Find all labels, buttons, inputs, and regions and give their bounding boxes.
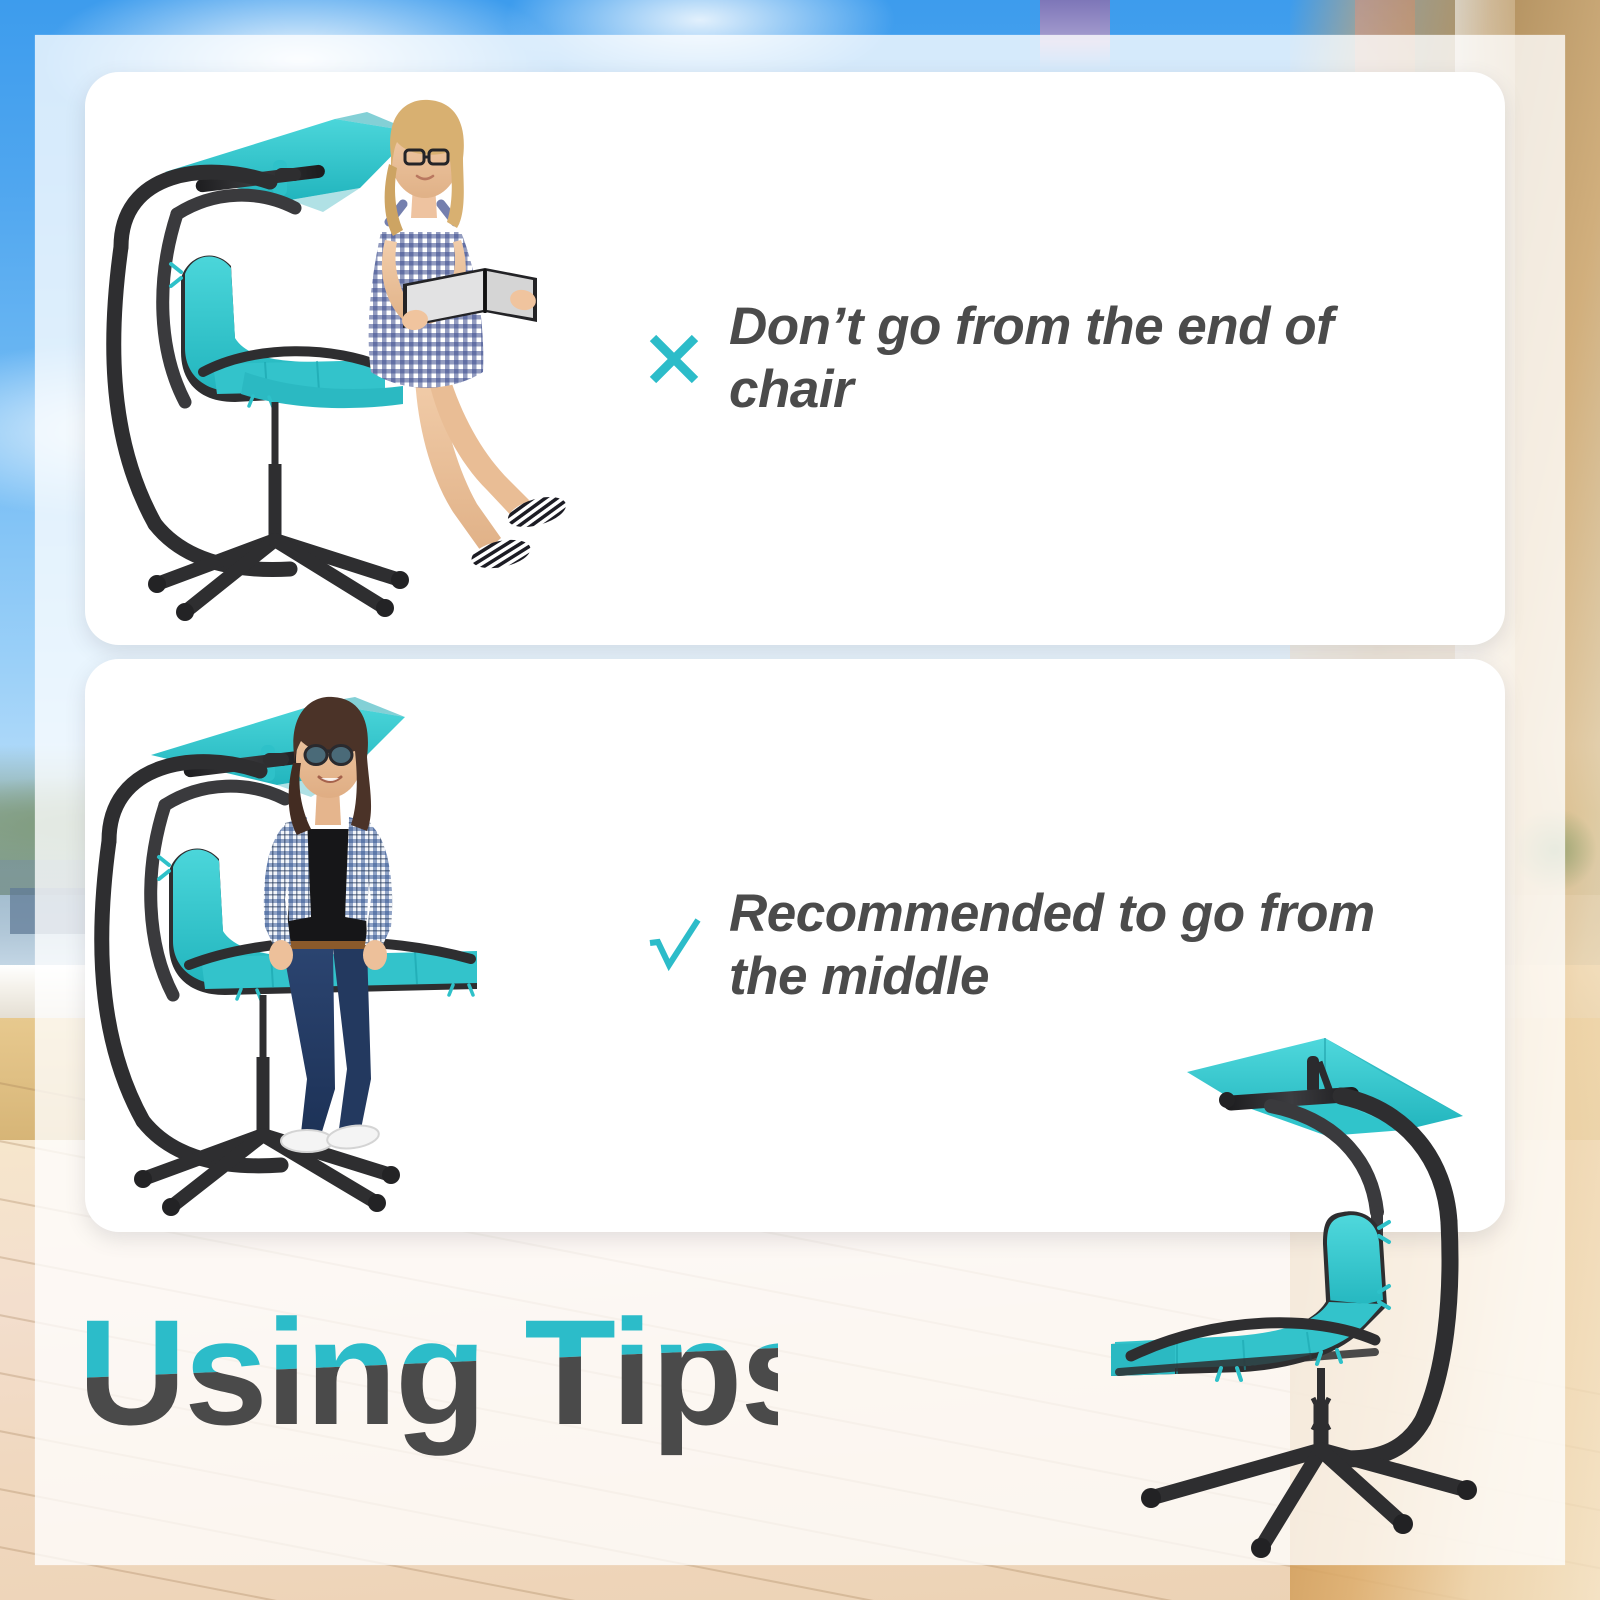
tip-text-wrap: Don’t go from the end of chair [645,296,1505,421]
check-mark-icon [645,917,703,975]
chair-with-seated-woman-illustration [85,72,645,645]
tip-label-dont: Don’t go from the end of chair [729,296,1465,421]
tip-row: Don’t go from the end of chair [85,72,1505,645]
hanging-chaise-lounge-illustration [1075,1000,1535,1575]
x-mark-icon [645,330,703,388]
chair-with-standing-woman-illustration [85,659,645,1232]
tip-text-wrap: Recommended to go from the middle [645,883,1505,1008]
model-seated-on-end [369,100,570,573]
tip-card-dont[interactable]: Don’t go from the end of chair [85,72,1505,645]
using-tips-title: Using Tips Using Tips [78,1296,778,1466]
tip-photo-recommended [85,659,645,1232]
infographic-canvas: Don’t go from the end of chair [0,0,1600,1600]
tip-label-recommended: Recommended to go from the middle [729,883,1465,1008]
page-title: Using Tips Using Tips [78,1296,778,1456]
tip-photo-dont [85,72,645,645]
hero-product-chair [1075,1000,1535,1575]
